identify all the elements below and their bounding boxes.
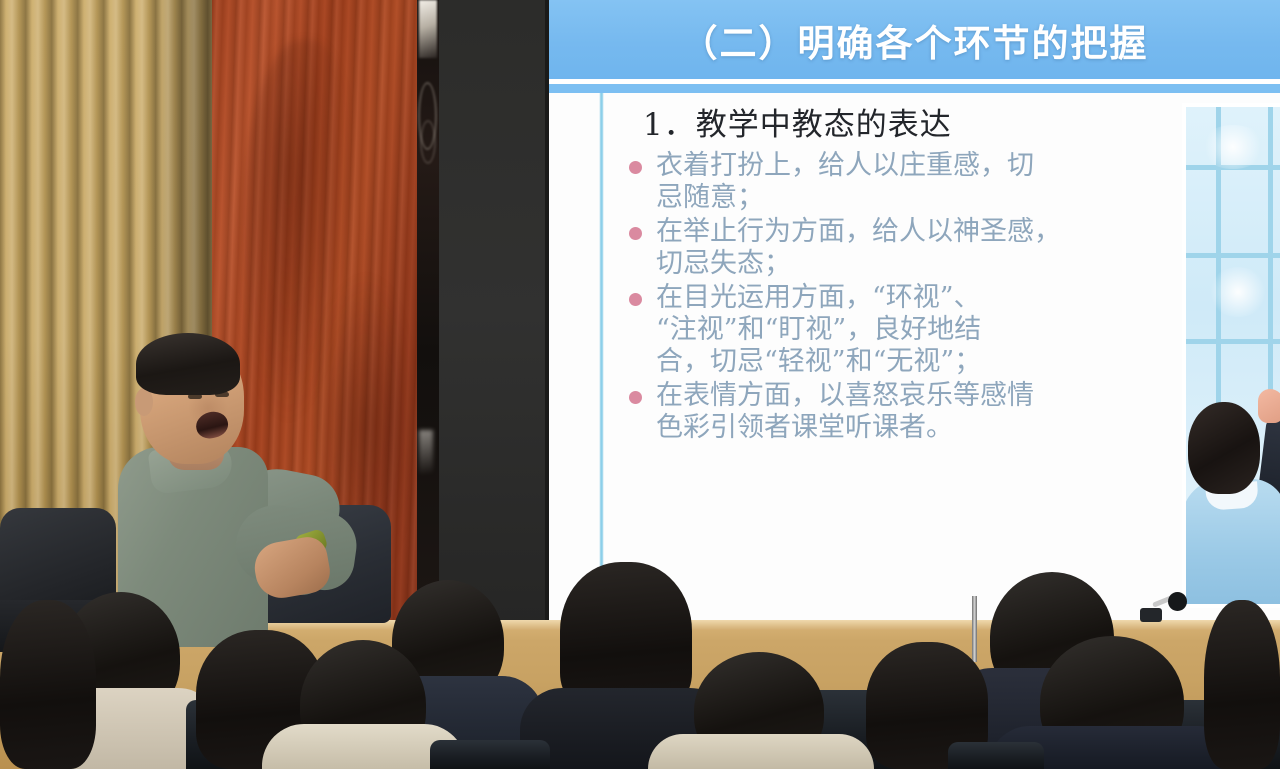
student-head bbox=[1188, 402, 1260, 494]
slide-bullet-list: 衣着打扮上，给人以庄重感，切 忌随意； 在举止行为方面，给人以神圣感， 切忌失态… bbox=[629, 150, 1174, 444]
bullet-line: 在举止行为方面，给人以神圣感， bbox=[656, 216, 1061, 248]
bullet-text: 在举止行为方面，给人以神圣感， 切忌失态； bbox=[656, 216, 1061, 280]
window-mullion bbox=[1186, 339, 1280, 344]
slide-inset-photo bbox=[1182, 103, 1280, 608]
list-item: 在目光运用方面，“环视”、 “注视”和“盯视”，良好地结 合，切忌“轻视”和“无… bbox=[629, 282, 1174, 378]
slide-heading: 1．教学中教态的表达 bbox=[643, 99, 1174, 144]
bullet-line: 在表情方面，以喜怒哀乐等感情 bbox=[656, 380, 1034, 412]
strip-reflection-ring bbox=[420, 120, 436, 164]
bullet-line: 忌随意； bbox=[656, 182, 1034, 214]
bullet-dot-icon bbox=[629, 161, 642, 174]
microphone-head-icon bbox=[1168, 592, 1187, 611]
slide-content: 1．教学中教态的表达 衣着打扮上，给人以庄重感，切 忌随意； 在举止行为方面，给… bbox=[629, 99, 1174, 446]
bullet-line: “注视”和“盯视”，良好地结 bbox=[656, 314, 981, 346]
header-under-band bbox=[549, 84, 1280, 93]
bullet-line: 色彩引领者课堂听课者。 bbox=[656, 412, 1034, 444]
projected-slide: （二）明确各个环节的把握 1．教学中教态的表达 衣着打扮上，给人以庄重感，切 忌… bbox=[549, 0, 1280, 626]
cloud-shape bbox=[1200, 125, 1266, 169]
bullet-line: 合，切忌“轻视”和“无视”； bbox=[656, 346, 981, 378]
bullet-dot-icon bbox=[629, 227, 642, 240]
auditorium-seat bbox=[948, 742, 1044, 769]
inset-photo-image bbox=[1186, 107, 1280, 604]
audience-head bbox=[0, 600, 96, 769]
audience-head bbox=[1204, 600, 1280, 769]
lecture-hall-scene: （二）明确各个环节的把握 1．教学中教态的表达 衣着打扮上，给人以庄重感，切 忌… bbox=[0, 0, 1280, 769]
slide-title: （二）明确各个环节的把握 bbox=[681, 13, 1149, 67]
list-item: 在举止行为方面，给人以神圣感， 切忌失态； bbox=[629, 216, 1174, 280]
metal-pole bbox=[972, 596, 977, 662]
bullet-text: 在目光运用方面，“环视”、 “注视”和“盯视”，良好地结 合，切忌“轻视”和“无… bbox=[656, 282, 981, 378]
bullet-dot-icon bbox=[629, 391, 642, 404]
slide-body: 1．教学中教态的表达 衣着打扮上，给人以庄重感，切 忌随意； 在举止行为方面，给… bbox=[549, 93, 1280, 626]
list-item: 在表情方面，以喜怒哀乐等感情 色彩引领者课堂听课者。 bbox=[629, 380, 1174, 444]
bullet-text: 衣着打扮上，给人以庄重感，切 忌随意； bbox=[656, 150, 1034, 214]
bullet-line: 在目光运用方面，“环视”、 bbox=[656, 282, 981, 314]
microphone-base bbox=[1140, 608, 1162, 622]
pointing-hand bbox=[1258, 389, 1280, 423]
audience-shoulders bbox=[648, 734, 874, 769]
strip-glare bbox=[419, 0, 437, 58]
blackboard bbox=[439, 0, 549, 628]
list-item: 衣着打扮上，给人以庄重感，切 忌随意； bbox=[629, 150, 1174, 214]
auditorium-seat bbox=[430, 740, 550, 769]
slide-header-band: （二）明确各个环节的把握 bbox=[549, 0, 1280, 79]
bullet-line: 切忌失态； bbox=[656, 248, 1061, 280]
bullet-line: 衣着打扮上，给人以庄重感，切 bbox=[656, 150, 1034, 182]
speaker-hair bbox=[136, 333, 240, 395]
bullet-dot-icon bbox=[629, 293, 642, 306]
window-mullion bbox=[1186, 253, 1280, 258]
cloud-shape bbox=[1208, 267, 1268, 317]
strip-glare bbox=[419, 430, 433, 474]
bullet-text: 在表情方面，以喜怒哀乐等感情 色彩引领者课堂听课者。 bbox=[656, 380, 1034, 444]
